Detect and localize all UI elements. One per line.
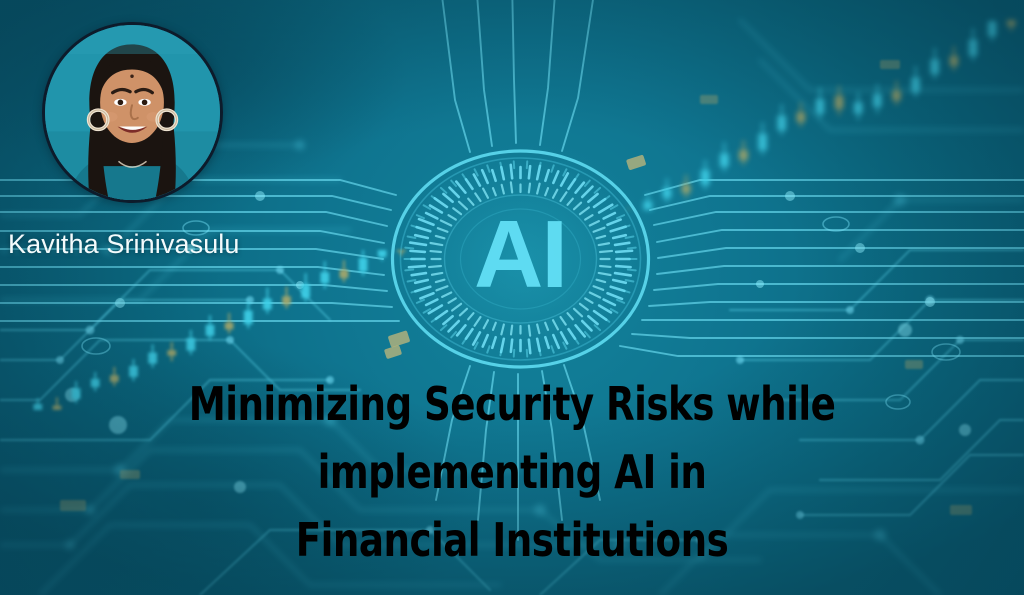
ai-tick <box>604 300 615 305</box>
ai-tick <box>410 251 424 252</box>
ai-tick <box>615 243 629 245</box>
ai-tick <box>502 185 504 194</box>
ai-tick <box>588 316 597 324</box>
ai-tick <box>463 174 467 180</box>
ai-tick <box>599 243 609 245</box>
ai-tick <box>588 194 597 202</box>
ai-tick <box>561 317 566 325</box>
ai-tick <box>453 208 461 214</box>
ai-tick <box>474 175 480 186</box>
ai-tick <box>475 193 480 201</box>
ai-tick <box>511 165 512 178</box>
ai-tick <box>468 313 473 319</box>
ai-tick <box>483 335 488 346</box>
ai-tick <box>417 215 424 218</box>
ai-tick <box>616 266 630 267</box>
ai-tick <box>585 215 592 219</box>
ai-tick <box>436 280 445 282</box>
ai-tick <box>594 228 605 232</box>
title-card: AI <box>0 0 1024 595</box>
ai-tick <box>576 325 585 336</box>
ai-tick <box>529 340 530 353</box>
ai-tick <box>590 293 600 298</box>
ai-tick <box>576 183 584 193</box>
ai-tick <box>585 298 592 302</box>
ai-tick <box>616 251 632 252</box>
ai-tick <box>468 199 473 205</box>
ai-tick <box>537 184 539 194</box>
ai-tick <box>628 248 636 249</box>
ai-tick <box>511 182 512 192</box>
ai-tick <box>412 273 426 275</box>
avatar-photo <box>45 25 220 200</box>
ai-emblem-label: AI <box>474 201 566 308</box>
ai-tick <box>500 349 501 356</box>
ai-tick <box>436 286 447 290</box>
ai-tick <box>617 215 624 218</box>
ai-tick <box>575 338 579 344</box>
ai-tick <box>410 243 426 245</box>
ai-tick <box>529 166 530 178</box>
avatar-portrait-svg <box>45 25 220 200</box>
ai-tick <box>405 248 413 249</box>
ai-tick <box>561 332 567 343</box>
ai-tick <box>539 349 540 356</box>
page-title: Minimizing Security Risks while implemen… <box>0 370 1024 574</box>
ai-tick <box>626 236 634 238</box>
ai-tick <box>411 226 419 228</box>
ai-tick <box>622 226 630 228</box>
ai-tick <box>493 188 496 195</box>
ai-tick <box>590 221 599 225</box>
title-line-2: implementing AI in <box>51 438 973 506</box>
ai-tick <box>551 165 553 171</box>
ai-tick <box>580 304 588 310</box>
ai-tick <box>430 251 440 252</box>
ai-tick <box>430 206 442 213</box>
ai-tick <box>553 171 558 182</box>
ai-tick <box>429 266 441 267</box>
ai-tick <box>574 309 582 316</box>
ai-tick <box>628 270 636 271</box>
ai-tick <box>463 338 467 344</box>
ai-tick <box>529 326 530 336</box>
ai-tick <box>452 304 461 311</box>
ai-tick <box>597 236 606 238</box>
ai-tick <box>600 266 610 267</box>
ai-tick <box>537 325 539 334</box>
ai-tick <box>457 325 465 335</box>
ai-tick <box>448 215 455 219</box>
ai-tick <box>613 280 626 283</box>
ai-tick <box>419 219 434 225</box>
ai-tick <box>449 321 459 331</box>
ai-tick <box>409 266 425 267</box>
ai-tick <box>575 174 579 180</box>
ai-tick <box>561 192 567 201</box>
ai-tick <box>553 320 558 329</box>
ai-tick <box>626 280 634 282</box>
ai-tick <box>600 251 612 252</box>
ai-tick <box>426 213 437 218</box>
ai-tick <box>487 346 489 352</box>
ai-tick <box>545 337 548 348</box>
ai-tick <box>501 325 503 335</box>
ai-tick <box>545 323 548 330</box>
ai-tick <box>432 273 442 275</box>
ai-tick <box>608 220 621 225</box>
ai-tick <box>475 317 481 326</box>
ai-tick <box>449 188 458 197</box>
ai-tick <box>408 280 416 282</box>
ai-tick <box>582 321 591 330</box>
ai-tick <box>441 325 446 330</box>
ai-tick <box>459 202 467 209</box>
ai-tick <box>415 280 428 283</box>
ai-tick <box>451 332 456 337</box>
ai-tick <box>411 290 419 292</box>
ai-tick <box>545 170 548 181</box>
ai-tick <box>442 293 451 297</box>
title-line-1: Minimizing Security Risks while <box>51 370 973 438</box>
ai-tick <box>594 286 604 290</box>
ai-tick <box>585 181 590 186</box>
ai-tick <box>595 325 600 330</box>
ai-tick <box>511 326 512 335</box>
ai-tick <box>568 199 573 205</box>
ai-tick <box>597 280 606 282</box>
ai-tick <box>448 298 455 302</box>
ai-tick <box>443 194 452 202</box>
ai-tick <box>492 170 495 181</box>
ai-tick <box>482 170 487 183</box>
ai-circuit-emblem: AI <box>383 141 658 377</box>
speaker-avatar <box>42 22 223 203</box>
ai-tick <box>608 293 623 299</box>
ai-tick <box>405 270 413 271</box>
ai-tick <box>622 290 630 292</box>
ai-tick <box>604 213 615 218</box>
ai-emblem-svg: AI <box>383 141 658 377</box>
ai-tick <box>500 163 501 170</box>
ai-tick <box>441 188 446 193</box>
ai-tick <box>568 313 573 319</box>
ai-tick <box>441 220 451 225</box>
ai-tick <box>408 236 416 238</box>
title-line-3: Financial Institutions <box>51 506 973 574</box>
ai-tick <box>484 320 488 328</box>
ai-tick <box>595 188 600 193</box>
ai-tick <box>599 305 611 312</box>
ai-tick <box>582 187 592 197</box>
ai-tick <box>436 236 445 238</box>
ai-tick <box>420 293 433 298</box>
ai-tick <box>553 335 558 348</box>
ai-tick <box>613 235 626 238</box>
ai-tick <box>574 203 581 210</box>
ai-tick <box>539 163 540 170</box>
ai-tick <box>417 300 424 303</box>
ai-tick <box>456 182 465 193</box>
ai-tick <box>617 300 624 303</box>
ai-tick <box>487 165 489 171</box>
ai-tick <box>545 188 548 195</box>
ai-tick <box>615 273 631 275</box>
ai-tick <box>511 340 512 352</box>
ai-tick <box>551 346 553 352</box>
ai-tick <box>599 273 611 275</box>
ai-tick <box>483 189 488 198</box>
ai-tick <box>493 323 496 330</box>
ai-tick <box>553 190 557 198</box>
ai-tick <box>426 300 437 305</box>
ai-tick <box>415 235 428 238</box>
ai-tick <box>529 184 530 193</box>
ai-tick <box>431 243 443 245</box>
ai-tick <box>443 316 452 324</box>
ai-tick <box>492 337 495 348</box>
ai-tick <box>460 309 467 316</box>
ai-tick <box>438 228 448 232</box>
speaker-name: Kavitha Srinivasulu <box>8 230 328 260</box>
ai-tick <box>580 207 589 214</box>
